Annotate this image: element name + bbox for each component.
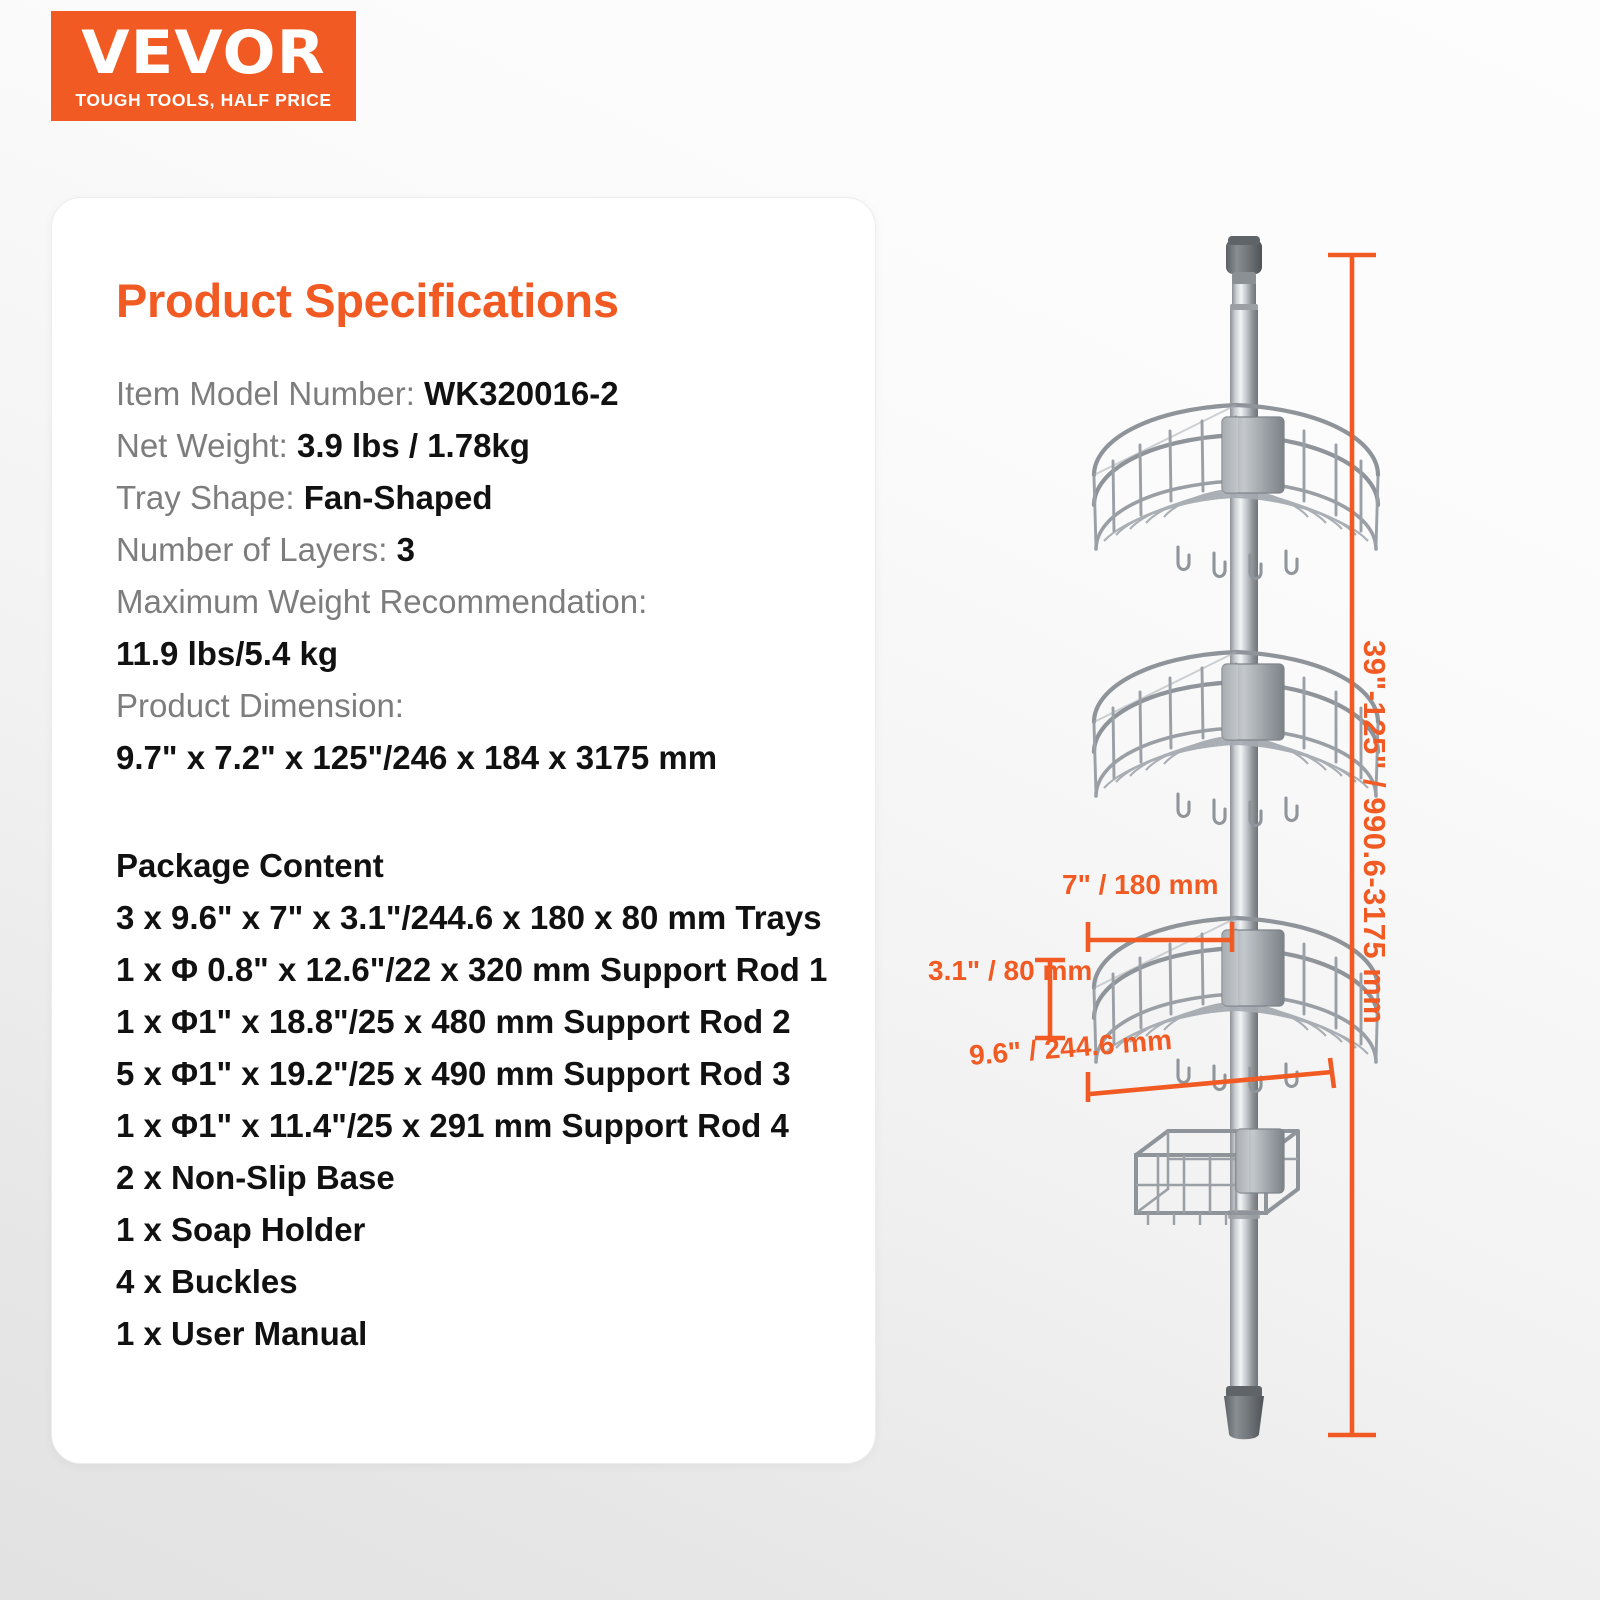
dimension-label-depth: 7" / 180 mm (1062, 869, 1218, 901)
spec-label-tray-shape: Tray Shape: (116, 479, 304, 516)
dimension-label-tray-height: 3.1" / 80 mm (928, 955, 1092, 987)
package-item: 1 x User Manual (116, 1308, 849, 1360)
spec-label-net-weight: Net Weight: (116, 427, 297, 464)
pole-top-cap (1226, 236, 1262, 288)
spec-value-tray-shape: Fan-Shaped (304, 479, 493, 516)
package-item: 4 x Buckles (116, 1256, 849, 1308)
page-title: Product Specifications (116, 277, 849, 324)
package-item: 1 x Φ 0.8" x 12.6"/22 x 320 mm Support R… (116, 944, 849, 996)
page-background: VEVOR TOUGH TOOLS, HALF PRICE Product Sp… (0, 0, 1600, 1600)
spec-value-net-weight: 3.9 lbs / 1.78kg (297, 427, 530, 464)
spec-row-net-weight: Net Weight: 3.9 lbs / 1.78kg (116, 420, 849, 472)
vevor-logo: VEVOR TOUGH TOOLS, HALF PRICE (51, 11, 356, 121)
package-item: 1 x Φ1" x 18.8"/25 x 480 mm Support Rod … (116, 996, 849, 1048)
brand-name: VEVOR (81, 23, 325, 83)
brand-tagline: TOUGH TOOLS, HALF PRICE (75, 92, 331, 110)
spec-value-max-weight: 11.9 lbs/5.4 kg (116, 628, 849, 680)
spec-row-layers: Number of Layers: 3 (116, 524, 849, 576)
specifications-card: Product Specifications Item Model Number… (51, 197, 876, 1464)
spec-label-dimension: Product Dimension: (116, 680, 849, 732)
spec-value-layers: 3 (397, 531, 415, 568)
spec-row-tray-shape: Tray Shape: Fan-Shaped (116, 472, 849, 524)
dimension-lines (1035, 255, 1376, 1435)
package-item: 5 x Φ1" x 19.2"/25 x 490 mm Support Rod … (116, 1048, 849, 1100)
package-item: 1 x Φ1" x 11.4"/25 x 291 mm Support Rod … (116, 1100, 849, 1152)
spec-label-layers: Number of Layers: (116, 531, 397, 568)
package-item: 3 x 9.6" x 7" x 3.1"/244.6 x 180 x 80 mm… (116, 892, 849, 944)
package-content-title: Package Content (116, 840, 849, 892)
package-item: 1 x Soap Holder (116, 1204, 849, 1256)
soap-holder (1136, 1129, 1298, 1225)
spec-label-max-weight: Maximum Weight Recommendation: (116, 576, 849, 628)
pole-bottom-foot (1224, 1386, 1264, 1439)
spec-label-model: Item Model Number: (116, 375, 424, 412)
spec-value-model: WK320016-2 (424, 375, 618, 412)
package-item: 2 x Non-Slip Base (116, 1152, 849, 1204)
spec-row-model: Item Model Number: WK320016-2 (116, 368, 849, 420)
spec-value-dimension: 9.7" x 7.2" x 125"/246 x 184 x 3175 mm (116, 732, 849, 784)
dimension-label-height: 39"-125" / 990.6-3175 mm (1356, 640, 1392, 1024)
